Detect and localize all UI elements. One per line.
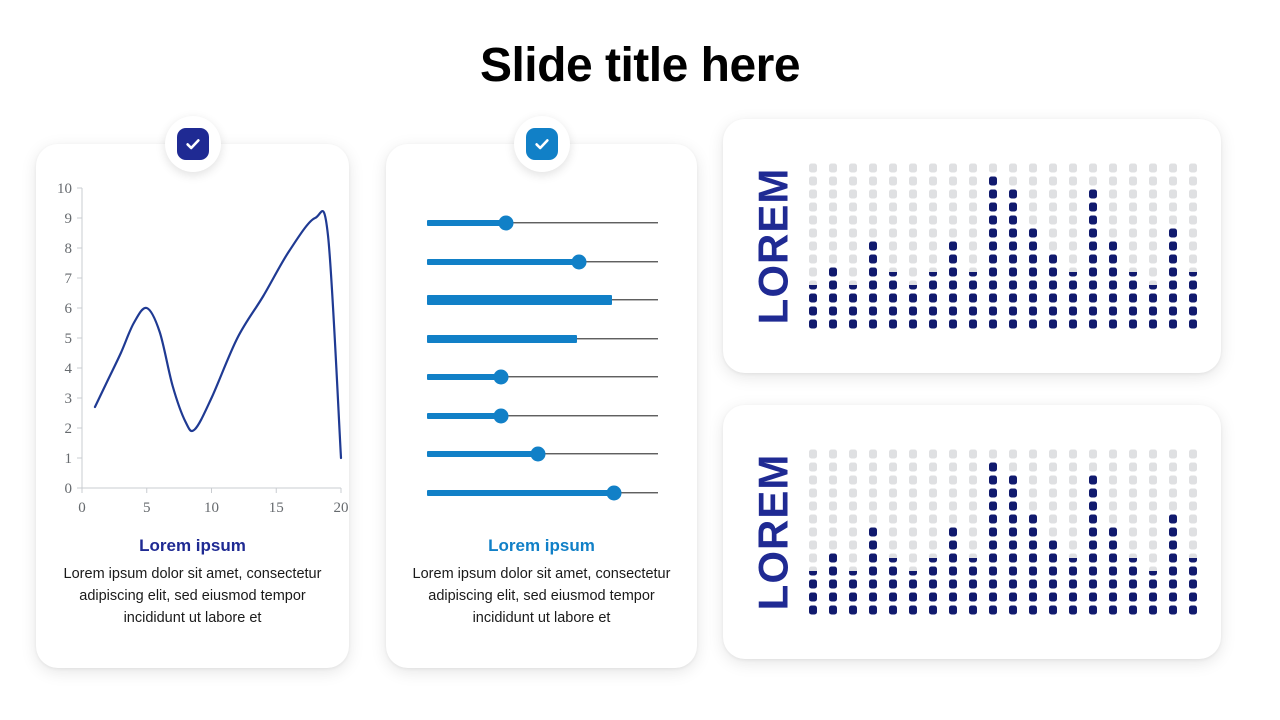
dot-cell: [1149, 203, 1157, 212]
badge-check-2: [514, 116, 570, 172]
dot-cell: [1089, 580, 1097, 589]
dot-cell: [869, 606, 877, 615]
dot-cell: [949, 216, 957, 225]
dot-cell: [889, 281, 897, 290]
dot-cell: [1009, 606, 1017, 615]
dot-cell: [1129, 528, 1137, 537]
dot-cell: [829, 463, 837, 472]
dot-cell: [849, 606, 857, 615]
dot-cell: [929, 281, 937, 290]
dot-cell: [909, 450, 917, 459]
dot-cell: [1109, 294, 1117, 303]
dot-cell: [889, 268, 897, 277]
dot-cell: [929, 541, 937, 550]
dot-cell: [889, 489, 897, 498]
dot-cell: [1189, 307, 1197, 316]
dot-cell: [1189, 320, 1197, 329]
dot-cell: [1029, 255, 1037, 264]
dot-cell: [889, 541, 897, 550]
dot-cell: [1169, 255, 1177, 264]
dot-cell: [1189, 242, 1197, 251]
dot-cell: [1049, 190, 1057, 199]
dot-column: [989, 450, 997, 615]
dot-cell: [929, 593, 937, 602]
dot-cell: [1149, 567, 1157, 576]
card-dot-matrix-1[interactable]: LOREM: [723, 119, 1221, 373]
dot-cell: [1049, 255, 1057, 264]
slider-knob[interactable]: [530, 447, 545, 462]
vertical-label: LOREM: [741, 119, 805, 373]
dot-cell: [949, 177, 957, 186]
dot-matrix-chart: [809, 164, 1197, 329]
dot-cell: [1149, 554, 1157, 563]
slider-row[interactable]: [427, 330, 658, 348]
dot-cell: [1049, 281, 1057, 290]
slider-knob[interactable]: [498, 216, 513, 231]
dot-cell: [969, 320, 977, 329]
dot-cell: [1169, 281, 1177, 290]
slider-row[interactable]: [427, 484, 658, 502]
dot-cell: [1129, 190, 1137, 199]
slider-row[interactable]: [427, 253, 658, 271]
dot-cell: [929, 463, 937, 472]
dot-column: [1089, 164, 1097, 329]
dot-cell: [949, 502, 957, 511]
dot-cell: [1089, 593, 1097, 602]
dot-cell: [929, 450, 937, 459]
dot-column: [869, 164, 877, 329]
dot-cell: [1029, 320, 1037, 329]
dot-cell: [809, 450, 817, 459]
dot-cell: [969, 528, 977, 537]
dot-cell: [869, 450, 877, 459]
dot-cell: [1069, 255, 1077, 264]
dot-cell: [849, 502, 857, 511]
dot-cell: [829, 268, 837, 277]
dot-cell: [1149, 502, 1157, 511]
dot-cell: [949, 242, 957, 251]
dot-cell: [849, 255, 857, 264]
slide-canvas: Slide title here 01234567891005101520 Lo…: [0, 0, 1280, 720]
dot-cell: [909, 489, 917, 498]
dot-cell: [1009, 554, 1017, 563]
dot-cell: [929, 489, 937, 498]
dot-cell: [1049, 463, 1057, 472]
dot-cell: [949, 554, 957, 563]
dot-cell: [1089, 242, 1097, 251]
dot-cell: [989, 450, 997, 459]
dot-cell: [989, 606, 997, 615]
dot-cell: [1129, 463, 1137, 472]
dot-cell: [1069, 281, 1077, 290]
dot-cell: [809, 294, 817, 303]
dot-cell: [1149, 320, 1157, 329]
dot-cell: [889, 502, 897, 511]
dot-cell: [1009, 593, 1017, 602]
dot-cell: [909, 463, 917, 472]
dot-cell: [1109, 567, 1117, 576]
dot-cell: [989, 307, 997, 316]
dot-cell: [829, 554, 837, 563]
dot-column: [1129, 450, 1137, 615]
y-tick-label: 8: [65, 241, 73, 257]
dot-cell: [1089, 229, 1097, 238]
dot-cell: [1089, 216, 1097, 225]
dot-cell: [829, 502, 837, 511]
slider-fill: [427, 490, 614, 496]
dot-cell: [809, 203, 817, 212]
dot-cell: [1109, 320, 1117, 329]
dot-cell: [809, 229, 817, 238]
dot-cell: [1069, 320, 1077, 329]
dot-cell: [1029, 580, 1037, 589]
dot-cell: [909, 216, 917, 225]
dot-cell: [1069, 476, 1077, 485]
dot-cell: [1169, 489, 1177, 498]
dot-cell: [1149, 450, 1157, 459]
dot-cell: [809, 567, 817, 576]
dot-cell: [1029, 476, 1037, 485]
slider-list: [427, 214, 658, 504]
dot-cell: [849, 242, 857, 251]
dot-cell: [949, 320, 957, 329]
dot-cell: [829, 255, 837, 264]
dot-column: [949, 450, 957, 615]
dot-cell: [1189, 515, 1197, 524]
slider-knob[interactable]: [493, 408, 508, 423]
dot-cell: [1009, 541, 1017, 550]
dot-cell: [1169, 502, 1177, 511]
dot-cell: [1129, 255, 1137, 264]
dot-cell: [929, 268, 937, 277]
dot-column: [989, 164, 997, 329]
dot-cell: [1009, 476, 1017, 485]
dot-cell: [1109, 463, 1117, 472]
dot-cell: [1109, 203, 1117, 212]
dot-cell: [1069, 164, 1077, 173]
dot-cell: [969, 164, 977, 173]
dot-cell: [1169, 567, 1177, 576]
dot-cell: [989, 320, 997, 329]
dot-cell: [1189, 450, 1197, 459]
dot-cell: [829, 567, 837, 576]
slider-knob[interactable]: [607, 485, 622, 500]
dot-cell: [889, 606, 897, 615]
dot-cell: [1029, 515, 1037, 524]
dot-cell: [869, 281, 877, 290]
dot-column: [1069, 164, 1077, 329]
dot-cell: [1189, 580, 1197, 589]
badge-check-1: [165, 116, 221, 172]
slider-fill: [427, 295, 612, 305]
slider-knob[interactable]: [493, 370, 508, 385]
dot-column: [889, 164, 897, 329]
vertical-label: LOREM: [741, 405, 805, 659]
dot-cell: [909, 164, 917, 173]
dot-cell: [929, 203, 937, 212]
dot-cell: [1129, 281, 1137, 290]
dot-column: [1109, 450, 1117, 615]
dot-cell: [969, 281, 977, 290]
dot-cell: [1069, 606, 1077, 615]
dot-cell: [1169, 606, 1177, 615]
dot-cell: [969, 229, 977, 238]
dot-cell: [949, 515, 957, 524]
dot-cell: [929, 528, 937, 537]
dot-cell: [989, 255, 997, 264]
dot-cell: [949, 541, 957, 550]
dot-cell: [1089, 476, 1097, 485]
dot-cell: [889, 580, 897, 589]
dot-cell: [989, 554, 997, 563]
dot-cell: [909, 502, 917, 511]
dot-cell: [1129, 203, 1137, 212]
dot-column: [929, 450, 937, 615]
card-line-chart[interactable]: 01234567891005101520 Lorem ipsum Lorem i…: [36, 144, 349, 668]
dot-column: [849, 450, 857, 615]
dot-cell: [1049, 593, 1057, 602]
dot-cell: [869, 515, 877, 524]
dot-cell: [1109, 476, 1117, 485]
dot-cell: [1109, 528, 1117, 537]
dot-cell: [849, 554, 857, 563]
dot-cell: [1089, 515, 1097, 524]
y-tick-label: 5: [65, 331, 73, 347]
dot-cell: [1169, 593, 1177, 602]
dot-cell: [1169, 229, 1177, 238]
dot-cell: [1109, 242, 1117, 251]
dot-cell: [1049, 294, 1057, 303]
dot-cell: [889, 216, 897, 225]
dot-cell: [1009, 307, 1017, 316]
dot-cell: [809, 515, 817, 524]
dot-cell: [909, 554, 917, 563]
dot-column: [889, 450, 897, 615]
dot-cell: [1089, 164, 1097, 173]
dot-cell: [1189, 476, 1197, 485]
dot-cell: [929, 320, 937, 329]
dot-cell: [949, 606, 957, 615]
dot-cell: [1069, 463, 1077, 472]
dot-cell: [889, 593, 897, 602]
dot-cell: [969, 476, 977, 485]
dot-cell: [909, 567, 917, 576]
dot-cell: [929, 567, 937, 576]
dot-cell: [1069, 190, 1077, 199]
dot-cell: [829, 242, 837, 251]
dot-cell: [1029, 164, 1037, 173]
dot-cell: [1169, 528, 1177, 537]
dot-cell: [969, 268, 977, 277]
dot-cell: [849, 177, 857, 186]
dot-cell: [1169, 554, 1177, 563]
card-heading: Lorem ipsum: [386, 536, 697, 556]
dot-cell: [909, 268, 917, 277]
dot-cell: [1029, 593, 1037, 602]
line-series: [95, 211, 341, 458]
dot-column: [809, 164, 817, 329]
dot-cell: [1109, 606, 1117, 615]
dot-cell: [829, 203, 837, 212]
dot-cell: [969, 203, 977, 212]
slider-knob[interactable]: [572, 254, 587, 269]
dot-cell: [989, 502, 997, 511]
dot-cell: [909, 203, 917, 212]
dot-cell: [949, 164, 957, 173]
dot-cell: [849, 307, 857, 316]
dot-cell: [869, 203, 877, 212]
dot-cell: [1089, 307, 1097, 316]
y-tick-label: 10: [57, 181, 72, 197]
card-dot-matrix-2[interactable]: LOREM: [723, 405, 1221, 659]
dot-cell: [989, 593, 997, 602]
dot-cell: [989, 515, 997, 524]
dot-cell: [1169, 190, 1177, 199]
dot-column: [829, 450, 837, 615]
dot-cell: [1129, 216, 1137, 225]
dot-cell: [829, 515, 837, 524]
dot-cell: [1129, 554, 1137, 563]
dot-cell: [1009, 216, 1017, 225]
dot-cell: [949, 203, 957, 212]
dot-cell: [1109, 515, 1117, 524]
dot-cell: [1189, 294, 1197, 303]
dot-cell: [829, 476, 837, 485]
dot-cell: [909, 255, 917, 264]
dot-cell: [1169, 463, 1177, 472]
dot-cell: [889, 203, 897, 212]
dot-cell: [1169, 541, 1177, 550]
dot-cell: [1009, 450, 1017, 459]
dot-cell: [849, 476, 857, 485]
dot-cell: [1049, 203, 1057, 212]
dot-cell: [869, 216, 877, 225]
dot-cell: [1089, 268, 1097, 277]
dot-cell: [1029, 216, 1037, 225]
dot-cell: [869, 541, 877, 550]
dot-cell: [989, 489, 997, 498]
dot-cell: [849, 320, 857, 329]
dot-cell: [1149, 294, 1157, 303]
dot-cell: [969, 606, 977, 615]
dot-cell: [969, 580, 977, 589]
dot-cell: [1069, 580, 1077, 589]
dot-cell: [849, 463, 857, 472]
dot-cell: [829, 528, 837, 537]
slider-row[interactable]: [427, 445, 658, 463]
dot-cell: [1029, 554, 1037, 563]
dot-cell: [1089, 450, 1097, 459]
slider-row[interactable]: [427, 214, 658, 232]
dot-cell: [869, 255, 877, 264]
dot-cell: [969, 489, 977, 498]
dot-cell: [809, 255, 817, 264]
dot-cell: [1049, 515, 1057, 524]
dot-cell: [989, 203, 997, 212]
dot-cell: [1049, 450, 1057, 459]
dot-cell: [849, 281, 857, 290]
dot-cell: [869, 528, 877, 537]
dot-cell: [849, 268, 857, 277]
dot-cell: [1069, 554, 1077, 563]
dot-cell: [1049, 164, 1057, 173]
dot-cell: [1169, 203, 1177, 212]
check-icon: [177, 128, 209, 160]
dot-cell: [929, 307, 937, 316]
dot-cell: [989, 528, 997, 537]
dot-cell: [1109, 593, 1117, 602]
dot-cell: [869, 294, 877, 303]
dot-cell: [1069, 450, 1077, 459]
dot-cell: [1129, 580, 1137, 589]
dot-cell: [929, 190, 937, 199]
dot-cell: [1049, 580, 1057, 589]
dot-cell: [829, 541, 837, 550]
dot-cell: [889, 190, 897, 199]
dot-cell: [1149, 528, 1157, 537]
dot-cell: [949, 294, 957, 303]
y-tick-label: 3: [65, 391, 73, 407]
slider-row[interactable]: [427, 291, 658, 309]
dot-cell: [849, 216, 857, 225]
dot-cell: [1009, 528, 1017, 537]
dot-column: [949, 164, 957, 329]
slider-row[interactable]: [427, 407, 658, 425]
slider-row[interactable]: [427, 368, 658, 386]
dot-cell: [829, 177, 837, 186]
dot-column: [1009, 164, 1017, 329]
dot-column: [1049, 450, 1057, 615]
dot-cell: [809, 502, 817, 511]
dot-cell: [989, 541, 997, 550]
dot-cell: [989, 281, 997, 290]
dot-cell: [1009, 281, 1017, 290]
dot-cell: [869, 242, 877, 251]
dot-cell: [849, 593, 857, 602]
dot-cell: [1009, 268, 1017, 277]
dot-cell: [929, 515, 937, 524]
dot-cell: [929, 476, 937, 485]
dot-cell: [1089, 541, 1097, 550]
dot-cell: [909, 307, 917, 316]
dot-cell: [1149, 593, 1157, 602]
card-sliders[interactable]: Lorem ipsum Lorem ipsum dolor sit amet, …: [386, 144, 697, 668]
dot-column: [969, 164, 977, 329]
dot-cell: [929, 177, 937, 186]
dot-cell: [889, 164, 897, 173]
dot-cell: [1109, 268, 1117, 277]
dot-column: [1049, 164, 1057, 329]
vertical-label-text: LOREM: [749, 168, 797, 325]
slider-fill: [427, 335, 577, 343]
dot-cell: [909, 294, 917, 303]
dot-cell: [849, 164, 857, 173]
dot-cell: [869, 593, 877, 602]
dot-cell: [1089, 463, 1097, 472]
dot-cell: [1069, 229, 1077, 238]
dot-cell: [1169, 216, 1177, 225]
dot-cell: [989, 476, 997, 485]
dot-cell: [889, 242, 897, 251]
dot-cell: [1149, 281, 1157, 290]
vertical-label-text: LOREM: [749, 454, 797, 611]
dot-cell: [1069, 567, 1077, 576]
dot-cell: [1049, 268, 1057, 277]
dot-cell: [1189, 463, 1197, 472]
dot-cell: [969, 567, 977, 576]
dot-cell: [1169, 307, 1177, 316]
dot-cell: [829, 307, 837, 316]
